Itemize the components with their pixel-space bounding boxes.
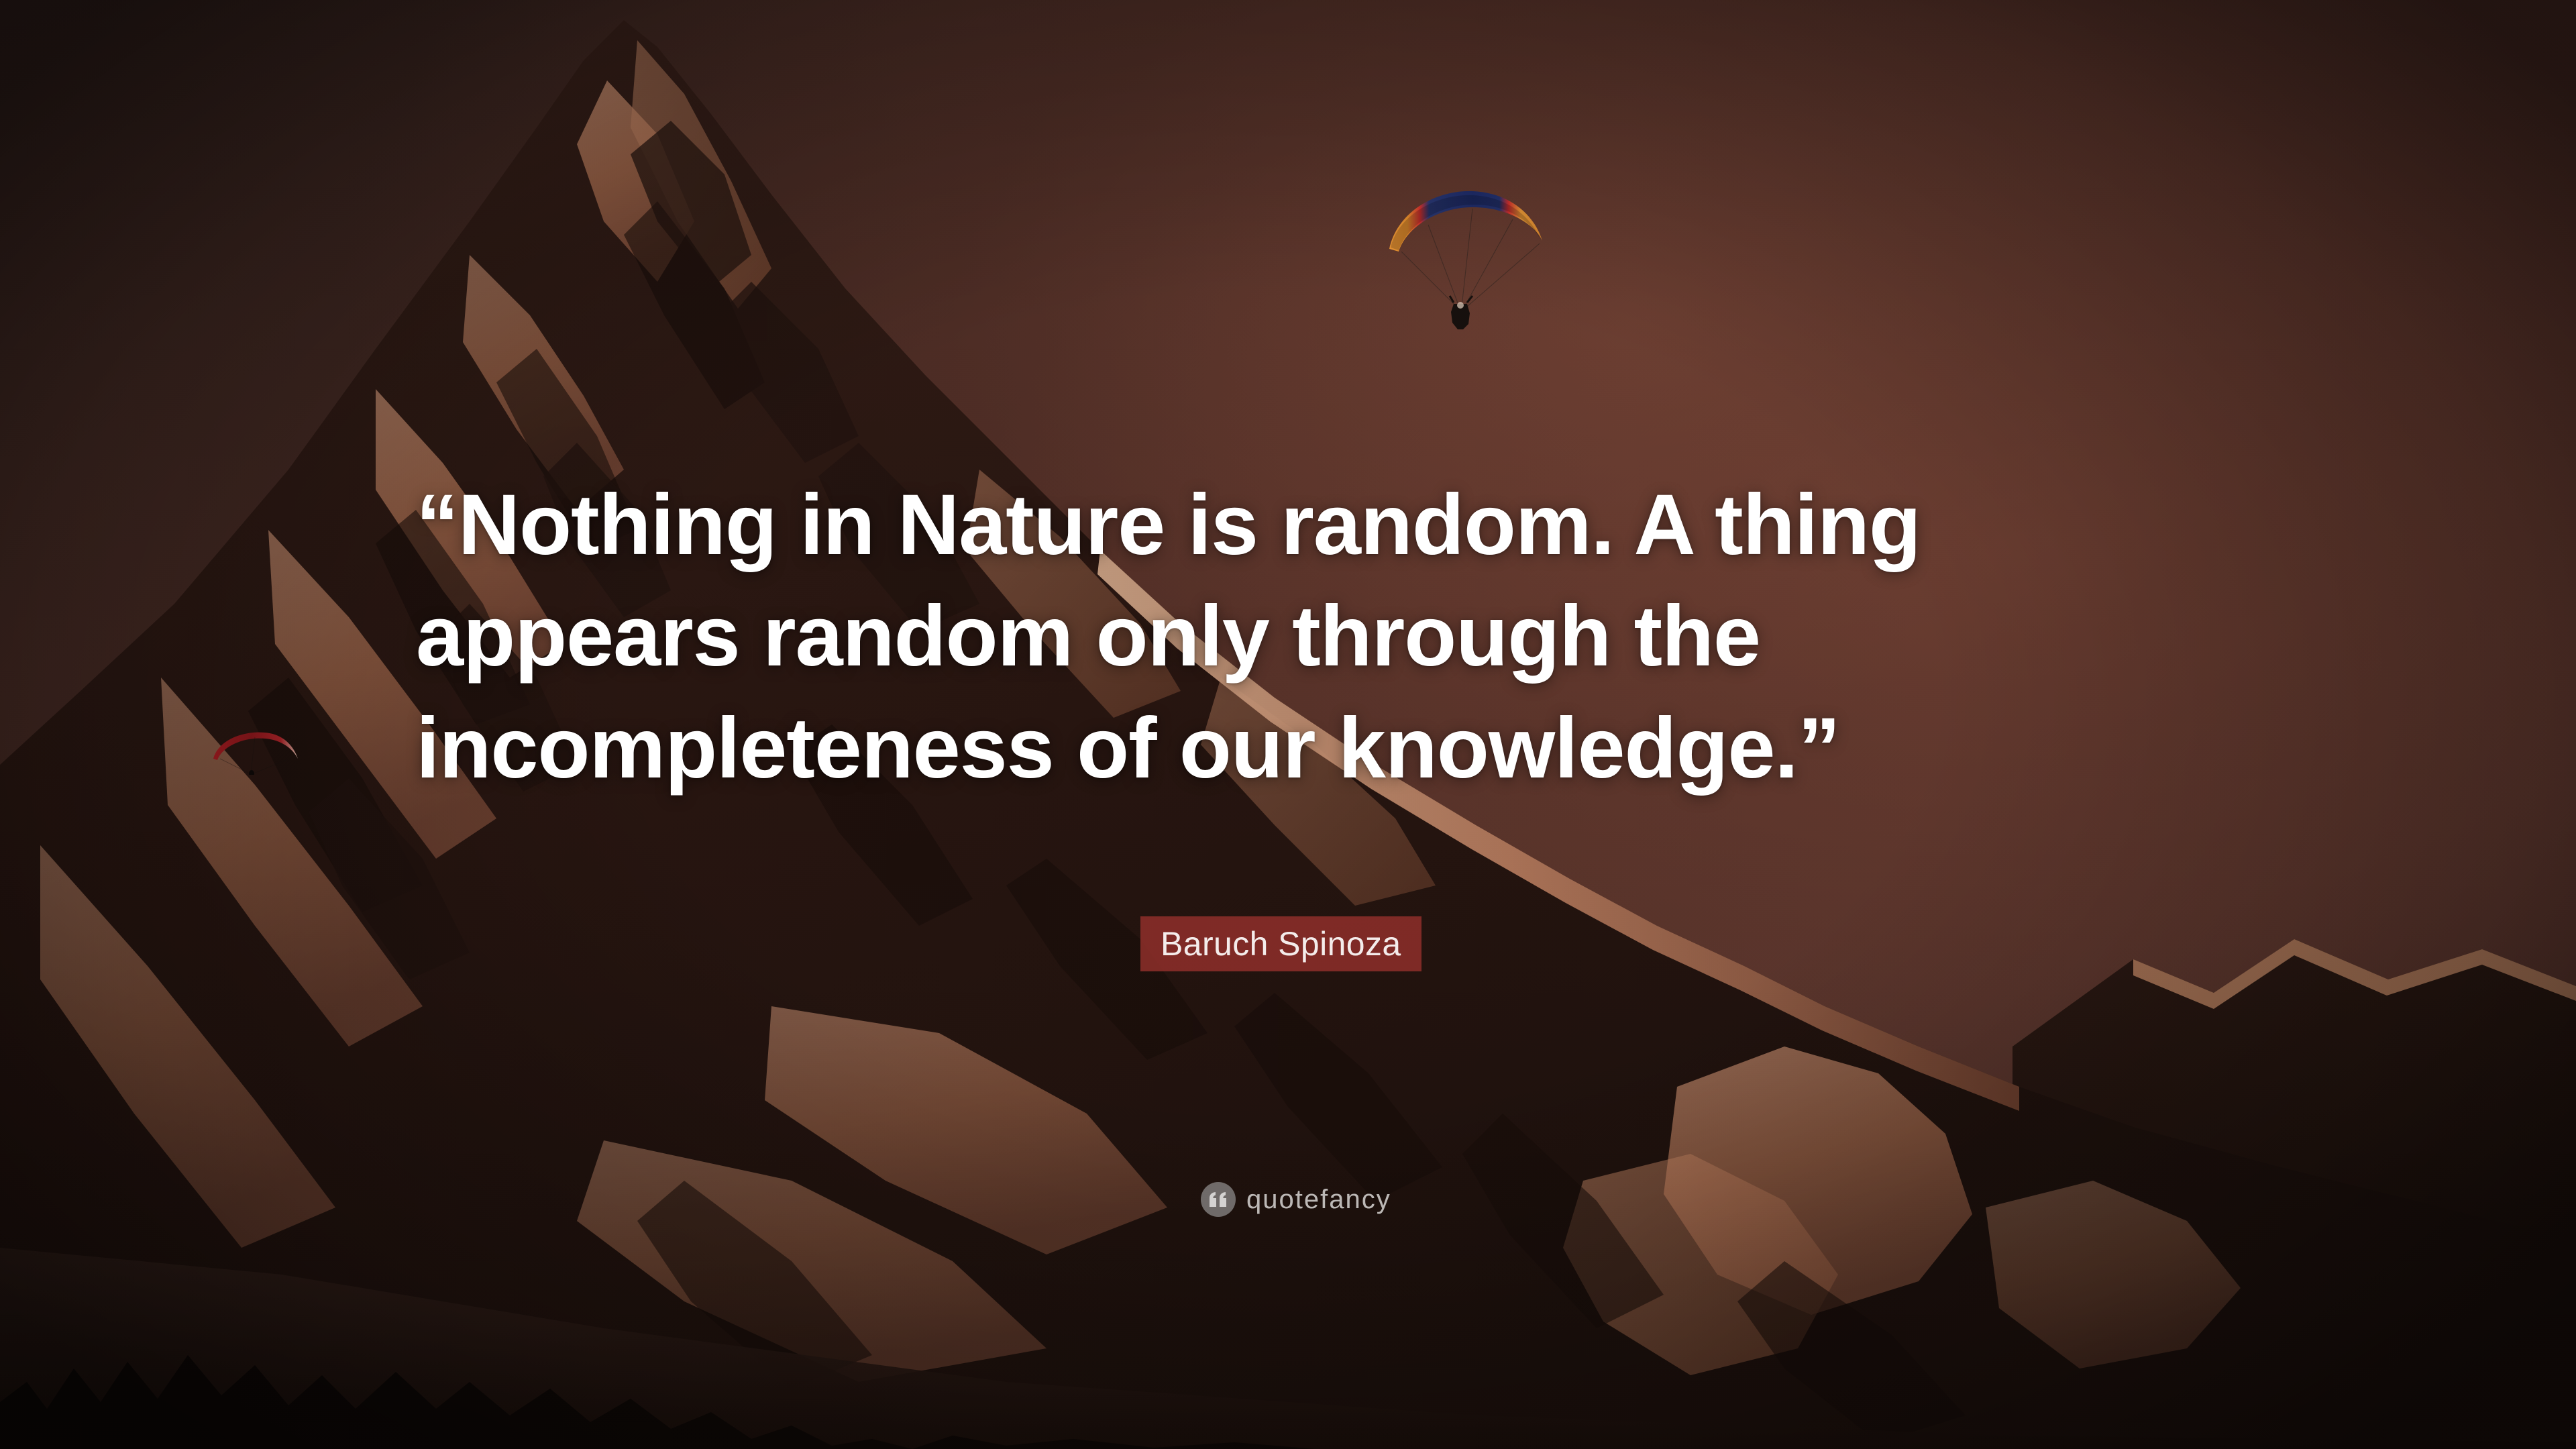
paraglider-helmet	[1457, 302, 1464, 309]
paraglider-small-pilot	[249, 770, 254, 775]
paraglider-small	[208, 728, 302, 775]
paraglider-small-canopy	[213, 733, 298, 760]
paraglider-lines	[1401, 209, 1540, 307]
quote-wallpaper: “Nothing in Nature is random. A thing ap…	[0, 0, 2576, 1449]
paraglider-pilot-risers	[1450, 296, 1472, 303]
paraglider-canopy-shade	[1391, 195, 1541, 250]
mountain-scene	[0, 0, 2576, 1449]
paraglider-main	[1379, 184, 1553, 339]
